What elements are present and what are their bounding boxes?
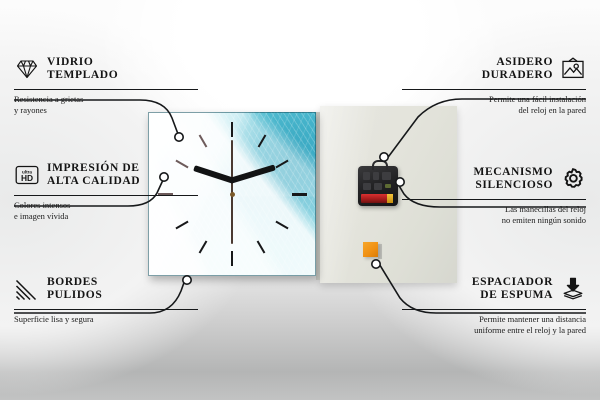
infographic-canvas: VIDRIO TEMPLADO Resistencia a grietas y … (0, 0, 600, 400)
feature-desc-line1: Las manecillas del reloj (402, 204, 586, 215)
feature-header: ASIDERO DURADERO (402, 52, 586, 86)
arrow-down-spacer-icon (560, 276, 586, 302)
mechanism-detail (373, 172, 379, 180)
feature-divider (402, 199, 586, 200)
feature-header: ultra HD IMPRESIÓN DE ALTA CALIDAD (14, 158, 198, 192)
feature-bordes-pulidos: BORDES PULIDOS Superficie lisa y segura (14, 272, 198, 325)
feature-title-line2: SILENCIOSO (473, 179, 553, 193)
feature-mecanismo-silencioso: MECANISMO SILENCIOSO Las manecillas del … (402, 162, 586, 225)
feature-title: IMPRESIÓN DE ALTA CALIDAD (47, 162, 140, 189)
feature-title-line1: VIDRIO (47, 56, 118, 70)
feature-header: ESPACIADOR DE ESPUMA (402, 272, 586, 306)
feature-title: MECANISMO SILENCIOSO (473, 166, 553, 193)
feature-description: Resistencia a grietas y rayones (14, 94, 198, 115)
feature-divider (402, 309, 586, 310)
mechanism-detail (385, 184, 391, 188)
polished-edges-icon (14, 276, 40, 302)
feature-desc-line1: Permite una fácil instalación (402, 94, 586, 105)
feature-desc-line2: no emiten ningún sonido (402, 215, 586, 226)
feature-vidrio-templado: VIDRIO TEMPLADO Resistencia a grietas y … (14, 52, 198, 115)
svg-text:HD: HD (21, 173, 33, 183)
clock-mechanism (358, 166, 398, 206)
feature-description: Permite una fácil instalación del reloj … (402, 94, 586, 115)
wall-hanger-hook (372, 160, 388, 170)
feature-title-line2: TEMPLADO (47, 69, 118, 83)
feature-title-line2: ALTA CALIDAD (47, 175, 140, 189)
ultra-hd-icon: ultra HD (14, 162, 40, 188)
feature-impresion-alta-calidad: ultra HD IMPRESIÓN DE ALTA CALIDAD Color… (14, 158, 198, 221)
feature-desc-line2: y rayones (14, 105, 198, 116)
feature-description: Superficie lisa y segura (14, 314, 198, 325)
feature-description: Permite mantener una distancia uniforme … (402, 314, 586, 335)
feature-header: BORDES PULIDOS (14, 272, 198, 306)
feature-divider (14, 309, 198, 310)
feature-title: ASIDERO DURADERO (482, 56, 553, 83)
feature-title-line1: BORDES (47, 276, 102, 290)
feature-espaciador-de-espuma: ESPACIADOR DE ESPUMA Permite mantener un… (402, 272, 586, 335)
diamond-icon (14, 56, 40, 82)
mechanism-detail (374, 183, 382, 190)
feature-divider (402, 89, 586, 90)
feature-description: Colores intensos e imagen vívida (14, 200, 198, 221)
feature-header: VIDRIO TEMPLADO (14, 52, 198, 86)
feature-description: Las manecillas del reloj no emiten ningú… (402, 204, 586, 225)
feature-title-line2: DURADERO (482, 69, 553, 83)
clock-battery (361, 194, 393, 203)
feature-divider (14, 195, 198, 196)
feature-title: BORDES PULIDOS (47, 276, 102, 303)
feature-title: ESPACIADOR DE ESPUMA (472, 276, 553, 303)
feature-desc-line2: e imagen vívida (14, 211, 198, 222)
feature-title-line1: IMPRESIÓN DE (47, 162, 140, 176)
mechanism-detail (382, 172, 391, 180)
feature-header: MECANISMO SILENCIOSO (402, 162, 586, 196)
feature-title-line1: ASIDERO (482, 56, 553, 70)
feature-desc-line1: Colores intensos (14, 200, 198, 211)
feature-title-line1: MECANISMO (473, 166, 553, 180)
feature-desc-line1: Resistencia a grietas (14, 94, 198, 105)
feature-asidero-duradero: ASIDERO DURADERO Permite una fácil insta… (402, 52, 586, 115)
feature-title-line2: PULIDOS (47, 289, 102, 303)
foam-spacer (363, 242, 378, 257)
feature-desc-line2: uniforme entre el reloj y la pared (402, 325, 586, 336)
feature-divider (14, 89, 198, 90)
feature-title-line2: DE ESPUMA (472, 289, 553, 303)
mechanism-detail (363, 172, 370, 180)
feature-desc-line2: del reloj en la pared (402, 105, 586, 116)
feature-desc-line1: Permite mantener una distancia (402, 314, 586, 325)
battery-terminal (387, 194, 393, 203)
gear-icon (560, 166, 586, 192)
picture-frame-hanger-icon (560, 56, 586, 82)
mechanism-detail (363, 183, 371, 190)
feature-desc-line1: Superficie lisa y segura (14, 314, 198, 325)
feature-title-line1: ESPACIADOR (472, 276, 553, 290)
feature-title: VIDRIO TEMPLADO (47, 56, 118, 83)
